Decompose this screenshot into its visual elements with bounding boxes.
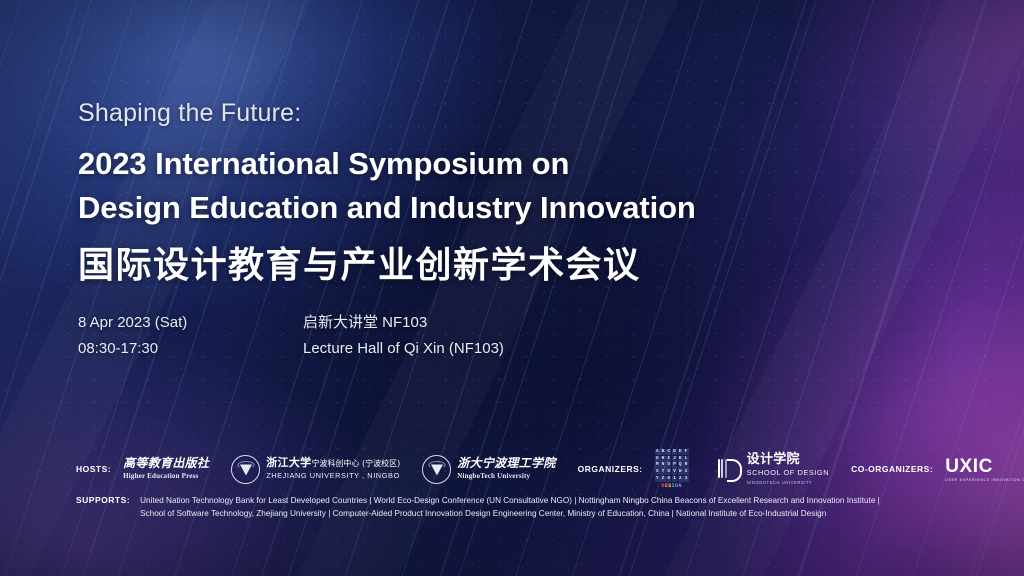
organizers-label: ORGANIZERS: (578, 464, 643, 474)
event-datetime: 8 Apr 2023 (Sat) 08:30-17:30 (78, 310, 187, 362)
organizer-logo-design-award: ABCDEF GHIJKL MNOPQR STUVWX YZ0123 DESIG… (655, 454, 696, 484)
supports-line-2: School of Software Technology, Zhejiang … (140, 507, 880, 520)
host-logo-higher-education-press: 高等教育出版社 Higher Education Press (123, 457, 209, 481)
organizer-word-design: DESIGN (655, 483, 689, 489)
venue-english: Lecture Hall of Qi Xin (NF103) (303, 336, 504, 362)
supports-label: SUPPORTS: (76, 494, 130, 505)
host-name-cn: 浙大宁波理工学院 (457, 457, 555, 470)
host-name-en: Higher Education Press (123, 472, 209, 481)
hosts-label: HOSTS: (76, 464, 111, 474)
organizer-name-cn: 设计学院 (747, 453, 829, 467)
host-name-en: ZHEJIANG UNIVERSITY , NINGBO (266, 471, 400, 481)
host-name-cn: 高等教育出版社 (123, 457, 209, 470)
venue-chinese: 启新大讲堂 NF103 (303, 310, 504, 336)
supports-list: United Nation Technology Bank for Least … (140, 494, 880, 521)
event-venue: 启新大讲堂 NF103 Lecture Hall of Qi Xin (NF10… (303, 310, 504, 362)
title-line-1: 2023 International Symposium on (78, 142, 696, 186)
poster-content: Shaping the Future: 2023 International S… (0, 0, 1024, 576)
conference-poster: Shaping the Future: 2023 International S… (0, 0, 1024, 576)
co-organizer-logo-uxic: UXIC USER EXPERIENCE INNOVATION CLUB (945, 457, 1024, 482)
organizer-name-en: SCHOOL OF DESIGN (747, 468, 829, 478)
host-logo-zhejiang-university-ningbo: 浙江大学宁波科创中心 (宁波校区) ZHEJIANG UNIVERSITY , … (231, 455, 400, 484)
poster-kicker: Shaping the Future: (78, 99, 301, 128)
organizer-name-en-sub: NINGBOTECH UNIVERSITY (747, 480, 829, 486)
co-organizer-name-en-sub: USER EXPERIENCE INNOVATION CLUB (945, 478, 1024, 482)
co-organizer-name-en: UXIC (945, 457, 1024, 476)
event-time: 08:30-17:30 (78, 336, 187, 362)
host-name-cn: 浙江大学宁波科创中心 (宁波校区) (266, 457, 400, 469)
event-date: 8 Apr 2023 (Sat) (78, 310, 187, 336)
page-title-chinese: 国际设计教育与产业创新学术会议 (78, 236, 641, 288)
sponsor-logo-row: HOSTS: 高等教育出版社 Higher Education Press 浙江… (76, 448, 1024, 490)
supports-line-1: United Nation Technology Bank for Least … (140, 494, 880, 507)
university-seal-icon (231, 455, 260, 484)
school-of-design-mark-icon (718, 457, 741, 480)
host-name-en: NingboTech University (457, 472, 555, 481)
page-title: 2023 International Symposium on Design E… (78, 142, 696, 230)
title-line-2: Design Education and Industry Innovation (78, 186, 696, 230)
alphabet-grid-icon: ABCDEF GHIJKL MNOPQR STUVWX YZ0123 DESIG… (655, 454, 689, 484)
host-logo-ningbotech-university: 浙大宁波理工学院 NingboTech University (422, 455, 555, 484)
university-seal-icon (422, 455, 451, 484)
supports-section: SUPPORTS: United Nation Technology Bank … (76, 494, 880, 521)
alphabet-grid: ABCDEF GHIJKL MNOPQR STUVWX YZ0123 (655, 449, 689, 482)
host-name-cn-sub: 宁波科创中心 (宁波校区) (311, 459, 400, 468)
organizer-logo-school-of-design: 设计学院 SCHOOL OF DESIGN NINGBOTECH UNIVERS… (718, 453, 829, 486)
co-organizers-label: CO-ORGANIZERS: (851, 464, 933, 474)
